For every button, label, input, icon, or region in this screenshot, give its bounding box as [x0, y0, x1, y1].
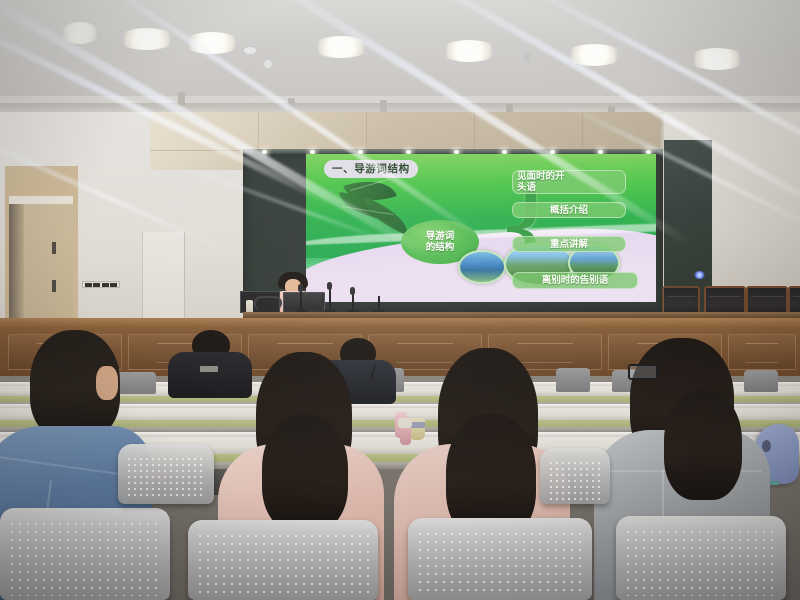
ceiling-downlight-pair [312, 36, 370, 58]
wall-switch-panel[interactable] [82, 281, 120, 288]
slide-item-box: 见面时的开 头语 [512, 170, 626, 194]
ceiling-downlight-pair [688, 48, 746, 70]
speaker-icon [264, 60, 272, 68]
center-node-line1: 导游词 [426, 231, 455, 242]
microphone-head-icon [350, 287, 355, 295]
slide-item-line1: 见面时的开 [517, 171, 565, 182]
ceiling-soffit [0, 103, 800, 112]
wall-seam [258, 112, 259, 152]
door-hinge-icon [52, 242, 56, 254]
audience-chair[interactable] [540, 448, 610, 504]
slide-item-box: 重点讲解 [512, 236, 626, 252]
leaf-illustration [334, 176, 420, 232]
slide-item-box: 离别时的告别语 [512, 272, 638, 289]
microphone-stem [352, 292, 354, 312]
microphone-stem [300, 290, 302, 312]
screen-edge-light [262, 150, 267, 154]
hair-over-jacket [664, 390, 742, 500]
slide-photo-circle [458, 250, 506, 284]
sprinkler-icon [524, 52, 530, 62]
stage-desk-rail [0, 318, 800, 327]
lecture-hall-photo: 一、导游词结构 导游词 的结构 { 见面时的开 头语 [0, 0, 800, 600]
foreground-chair[interactable] [188, 520, 378, 600]
presentation-slide: 一、导游词结构 导游词 的结构 { 见面时的开 头语 [306, 154, 656, 302]
foreground-chair[interactable] [408, 518, 592, 600]
audience-chair[interactable] [118, 444, 214, 504]
ceiling-downlight-pair [118, 28, 176, 50]
microphone-stem [329, 288, 331, 312]
blue-indicator-led-icon [694, 271, 705, 279]
ceiling-downlight-pair [183, 32, 241, 54]
ceiling-downlight-pair [565, 44, 623, 66]
slide-item-line2: 头语 [517, 182, 536, 193]
slide-item-box: 概括介绍 [512, 202, 626, 218]
door-lintel [9, 196, 73, 204]
door-hinge-icon [52, 280, 56, 292]
microphone-head-icon [327, 282, 332, 290]
ear-cheek [96, 366, 118, 400]
wall-seam [474, 112, 475, 152]
cable-loop [254, 296, 282, 310]
spotlight-housing [178, 92, 185, 106]
microphone-head-icon [298, 284, 303, 292]
foreground-chair[interactable] [616, 516, 786, 600]
laptop-screen [284, 293, 322, 310]
eyeglasses-icon [628, 364, 658, 380]
ceiling-downlight-pair [440, 40, 498, 62]
wall-seam [582, 112, 583, 152]
center-node-line2: 的结构 [426, 242, 455, 253]
hair-over-coat [262, 414, 348, 532]
wall-seam [366, 112, 367, 152]
jacket-label [200, 366, 218, 372]
smoke-detector-icon [243, 46, 257, 55]
ceiling-downlight-pair [60, 22, 100, 44]
foreground-chair[interactable] [0, 508, 170, 600]
spotlight-housing [288, 98, 295, 112]
